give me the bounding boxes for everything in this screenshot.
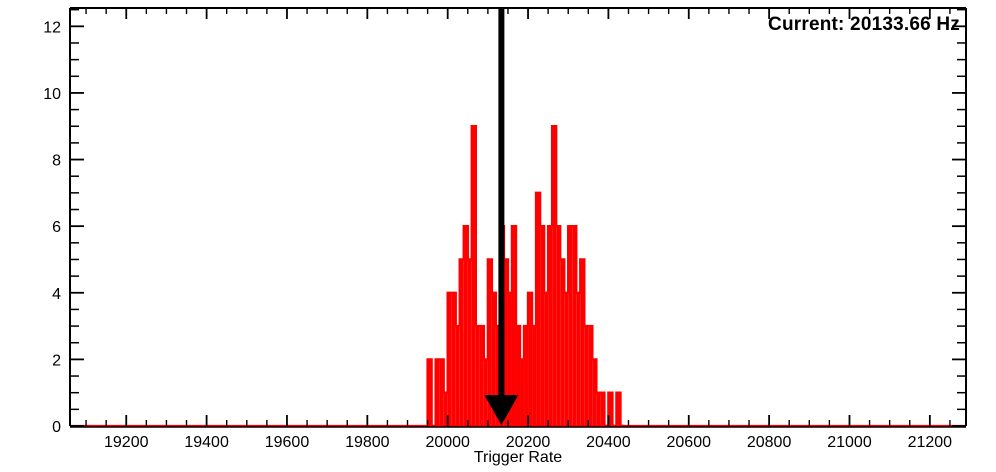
- histogram-bar: [564, 293, 568, 426]
- histogram-bar: [484, 359, 488, 426]
- y-tick-label: 12: [43, 19, 61, 36]
- y-tick-label: 4: [52, 286, 61, 303]
- current-value-label: Current: 20133.66 Hz: [768, 14, 960, 36]
- histogram-bar: [476, 326, 480, 426]
- y-tick-label: 6: [52, 219, 61, 236]
- x-tick-label: 20600: [667, 434, 712, 451]
- histogram-canvas: 1920019400196001980020000202002040020600…: [0, 0, 996, 472]
- x-tick-label: 19800: [345, 434, 390, 451]
- histogram-bar: [576, 293, 580, 426]
- y-tick-label: 8: [52, 153, 61, 170]
- histogram-bar: [584, 326, 588, 426]
- y-tick-label: 0: [52, 419, 61, 436]
- histogram-bar: [544, 293, 548, 426]
- x-tick-label: 21200: [908, 434, 953, 451]
- x-tick-label: 20400: [586, 434, 631, 451]
- y-tick-label: 10: [43, 86, 61, 103]
- x-tick-label: 19600: [265, 434, 310, 451]
- x-tick-label: 19200: [104, 434, 149, 451]
- x-tick-label: 20000: [425, 434, 470, 451]
- x-axis-line: [70, 426, 966, 427]
- histogram-bar: [596, 393, 600, 426]
- x-axis-title: Trigger Rate: [474, 449, 562, 466]
- x-tick-label: 21000: [827, 434, 872, 451]
- histogram-bar: [520, 359, 524, 426]
- y-tick-label: 2: [52, 352, 61, 369]
- histogram-bar: [468, 259, 472, 426]
- chart-root: 1920019400196001980020000202002040020600…: [0, 0, 996, 472]
- histogram-bar: [456, 326, 460, 426]
- histogram-bar: [532, 326, 536, 426]
- x-tick-label: 19400: [184, 434, 229, 451]
- x-tick-label: 20800: [747, 434, 792, 451]
